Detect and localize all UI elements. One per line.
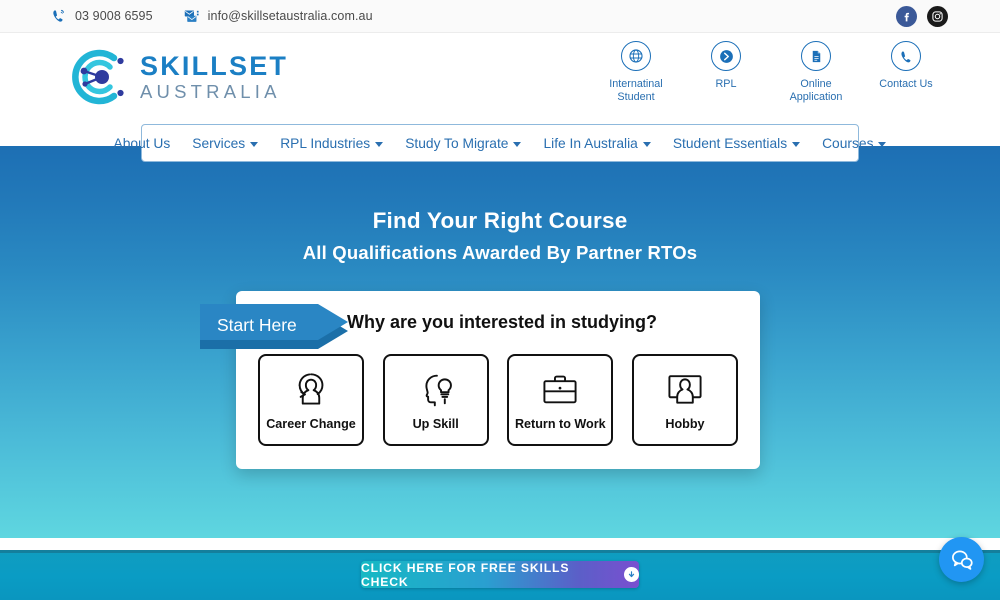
briefcase-icon-wrap [538,366,582,412]
globe-icon [628,48,644,64]
header-action-label: RPL [715,78,736,91]
email-contact[interactable]: info@skillsetaustralia.com.au [183,8,373,25]
chevron-down-icon [250,142,258,147]
free-skills-check-button[interactable]: CLICK HERE FOR FREE SKILLS CHECK [361,561,639,588]
course-finder-card: Start Here Why are you interested in stu… [236,291,760,469]
quiz-option-label: Career Change [266,417,356,431]
nav-item-label: Life In Australia [543,136,637,151]
header-action-label: Contact Us [879,78,932,91]
nav-list: About Us Services RPL Industries Study T… [103,136,898,151]
nav-item-services[interactable]: Services [181,136,269,151]
top-utility-bar: 03 9008 6595 info@skillsetaustralia.com.… [0,0,1000,33]
nav-item-label: Study To Migrate [405,136,508,151]
head-lightbulb-icon-wrap [414,366,458,412]
header-action-rpl[interactable]: RPL [690,41,762,91]
person-monitor-icon [663,367,707,411]
arrow-right-circle-icon-wrap [711,41,741,71]
person-refresh-icon-wrap [289,366,333,412]
quiz-option-label: Up Skill [413,417,459,431]
nav-item-courses[interactable]: Courses [811,136,897,151]
quiz-option-up-skill[interactable]: Up Skill [383,354,489,446]
chat-bubbles-icon [949,547,975,573]
nav-item-label: Student Essentials [673,136,787,151]
person-refresh-icon [289,367,333,411]
quiz-option-hobby[interactable]: Hobby [632,354,738,446]
phone-contact[interactable]: 03 9008 6595 [50,8,153,25]
person-monitor-icon-wrap [663,366,707,412]
arrow-right-circle-icon [718,48,735,65]
page-root: 03 9008 6595 info@skillsetaustralia.com.… [0,0,1000,600]
chevron-down-icon [643,142,651,147]
skillset-logo-mark [58,44,132,110]
header-quick-actions: Internatinal Student RPL [600,41,942,105]
document-icon [809,49,824,64]
document-icon-wrap [801,41,831,71]
nav-item-about-us[interactable]: About Us [103,136,182,151]
arrow-down-circle-icon [624,567,639,582]
nav-item-study-to-migrate[interactable]: Study To Migrate [394,136,532,151]
chat-widget-button[interactable] [939,537,984,582]
nav-item-life-in-australia[interactable]: Life In Australia [532,136,661,151]
logo-wordmark: SKILLSET AUSTRALIA [140,53,288,102]
hero-heading: Find Your Right Course [0,208,1000,234]
email-icon [183,8,200,25]
quiz-options: Career Change Up Skill [258,354,738,446]
header-action-international-student[interactable]: Internatinal Student [600,41,672,105]
header-action-label: Online Application [780,78,852,105]
nav-item-rpl-industries[interactable]: RPL Industries [269,136,394,151]
phone-number: 03 9008 6595 [75,9,153,23]
nav-item-label: About Us [114,136,171,151]
quiz-option-return-to-work[interactable]: Return to Work [507,354,613,446]
site-header: SKILLSET AUSTRALIA Internatinal Student [0,33,1000,125]
phone-handset-icon-wrap [891,41,921,71]
header-action-online-application[interactable]: Online Application [780,41,852,105]
start-here-ribbon[interactable] [200,304,358,349]
chevron-down-icon [375,142,383,147]
hero-subheading: All Qualifications Awarded By Partner RT… [0,242,1000,264]
white-divider-band [0,538,1000,550]
quiz-option-label: Return to Work [515,417,606,431]
facebook-icon[interactable] [896,6,917,27]
logo[interactable]: SKILLSET AUSTRALIA [58,44,288,110]
phone-icon [50,8,67,25]
chevron-down-icon [792,142,800,147]
topbar-contact-group: 03 9008 6595 info@skillsetaustralia.com.… [50,8,403,25]
header-action-contact-us[interactable]: Contact Us [870,41,942,91]
instagram-icon[interactable] [927,6,948,27]
logo-line-2: AUSTRALIA [140,83,288,102]
email-address: info@skillsetaustralia.com.au [208,9,373,23]
hero-section: Find Your Right Course All Qualification… [0,146,1000,538]
chevron-down-icon [878,142,886,147]
logo-line-1: SKILLSET [140,53,288,80]
quiz-option-label: Hobby [665,417,704,431]
head-lightbulb-icon [414,367,458,411]
globe-icon-wrap [621,41,651,71]
nav-item-label: Courses [822,136,873,151]
header-action-label: Internatinal Student [600,78,672,105]
nav-item-label: Services [192,136,245,151]
quiz-option-career-change[interactable]: Career Change [258,354,364,446]
main-navigation: About Us Services RPL Industries Study T… [141,124,859,162]
cta-label: CLICK HERE FOR FREE SKILLS CHECK [361,561,613,589]
social-links [896,6,948,27]
quiz-question: Why are you interested in studying? [347,312,657,333]
briefcase-icon [538,367,582,411]
nav-item-label: RPL Industries [280,136,370,151]
nav-item-student-essentials[interactable]: Student Essentials [662,136,811,151]
phone-handset-icon [899,49,914,64]
chevron-down-icon [513,142,521,147]
